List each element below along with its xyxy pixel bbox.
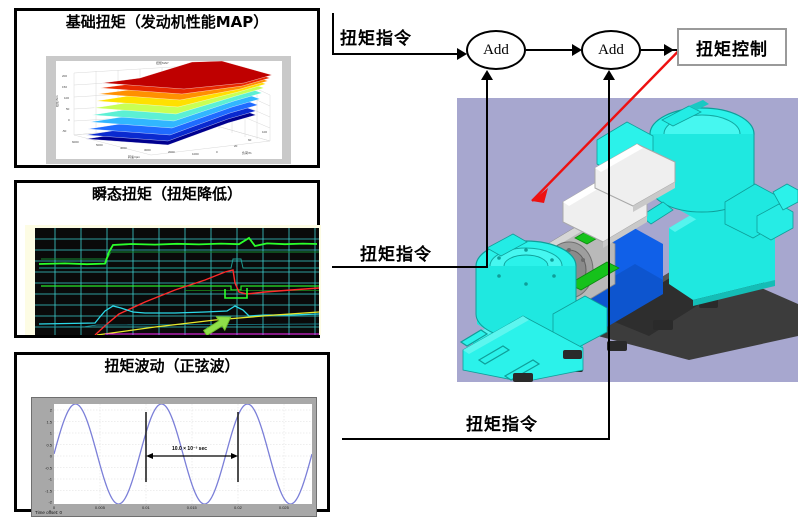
sine-xtick: 0.025	[279, 505, 289, 510]
svg-text:6000: 6000	[72, 140, 79, 144]
diagram-canvas: 基础扭矩（发动机性能MAP）	[0, 0, 798, 520]
svg-text:扭矩MAP: 扭矩MAP	[156, 61, 169, 65]
sine-xtick: 0.02	[234, 505, 242, 510]
surface-plot-svg: 200150 10050 0-50 60005000 40003000 2000…	[56, 61, 282, 159]
dyno-test-bench-svg	[457, 98, 798, 382]
transient-scope-svg	[35, 228, 319, 335]
transient-scope-screen	[35, 228, 319, 335]
dyno-test-bench-image	[457, 98, 798, 382]
sine-ytick: -0.5	[45, 465, 52, 470]
wire-bottom-vertical	[608, 80, 610, 440]
torque-control-label: 扭矩控制	[696, 35, 768, 60]
add-node-1[interactable]: Add	[466, 30, 526, 70]
panel-transient-torque-title: 瞬态扭矩（扭矩降低）	[17, 183, 317, 203]
sine-ytick: 2	[50, 408, 52, 413]
sine-scope-figure: 2 1.5 1 0.5 0 -0.5 -1 -1.5 -2 0 0.005 0.…	[31, 397, 317, 517]
panel-torque-fluctuation: 扭矩波动（正弦波）	[14, 352, 330, 512]
sine-ytick: -2	[48, 500, 52, 505]
svg-text:5000: 5000	[96, 143, 103, 147]
svg-text:200: 200	[62, 74, 67, 78]
wire-top-horizontal	[332, 53, 460, 55]
sine-measurement-label: 10.0 × 10⁻³ sec	[172, 446, 207, 452]
label-torque-command-top: 扭矩指令	[340, 24, 412, 49]
panel-torque-fluctuation-title: 扭矩波动（正弦波）	[17, 355, 327, 375]
sine-ytick: 1.5	[46, 419, 52, 424]
svg-text:0: 0	[68, 118, 70, 122]
sine-ytick: -1.5	[45, 488, 52, 493]
svg-text:60: 60	[248, 138, 252, 142]
svg-text:负荷/%: 负荷/%	[242, 150, 252, 155]
add-node-1-label: Add	[483, 42, 509, 59]
svg-text:20: 20	[234, 144, 238, 148]
sine-ytick: -1	[48, 477, 52, 482]
sine-ytick: 0.5	[46, 442, 52, 447]
svg-text:4000: 4000	[120, 146, 127, 150]
svg-text:2000: 2000	[168, 150, 175, 154]
svg-text:100: 100	[64, 96, 69, 100]
add-node-2-label: Add	[598, 42, 624, 59]
svg-text:3000: 3000	[144, 148, 151, 152]
panel-base-torque: 基础扭矩（发动机性能MAP）	[14, 8, 320, 168]
svg-text:100: 100	[262, 130, 267, 134]
arrowhead-up-into-add1	[481, 70, 493, 80]
svg-text:0: 0	[216, 150, 218, 154]
svg-text:-50: -50	[62, 129, 67, 133]
svg-text:150: 150	[62, 85, 67, 89]
sine-xtick: 0.005	[95, 505, 105, 510]
arrowhead-into-output	[664, 44, 674, 56]
surface-plot-axes: 200150 10050 0-50 60005000 40003000 2000…	[56, 61, 282, 159]
svg-text:扭矩/Nm: 扭矩/Nm	[56, 95, 59, 107]
sine-ytick: 0	[50, 454, 52, 459]
surface-plot-figure: 200150 10050 0-50 60005000 40003000 2000…	[46, 56, 291, 164]
svg-text:50: 50	[66, 107, 70, 111]
add-node-2[interactable]: Add	[581, 30, 641, 70]
transient-scope-figure	[25, 225, 321, 335]
wire-mid-vertical	[486, 80, 488, 268]
panel-base-torque-title: 基础扭矩（发动机性能MAP）	[17, 11, 317, 31]
sine-time-offset-label: Time offset: 0	[35, 510, 62, 515]
wire-add1-to-add2	[526, 49, 576, 51]
panel-transient-torque: 瞬态扭矩（扭矩降低）	[14, 180, 320, 338]
sine-scope-svg	[54, 404, 312, 504]
arrowhead-up-into-add2	[603, 70, 615, 80]
label-torque-command-bottom: 扭矩指令	[466, 410, 538, 435]
sine-scope-axes: 2 1.5 1 0.5 0 -0.5 -1 -1.5 -2 0 0.005 0.…	[54, 404, 312, 504]
sine-xtick: 0.01	[142, 505, 150, 510]
wire-top-vertical	[332, 13, 334, 55]
svg-text:1000: 1000	[192, 152, 199, 156]
svg-text:转速/rpm: 转速/rpm	[128, 154, 141, 159]
sine-xtick: 0.015	[187, 505, 197, 510]
wire-bottom-horizontal	[342, 438, 610, 440]
label-torque-command-mid: 扭矩指令	[360, 240, 432, 265]
sine-ytick: 1	[50, 431, 52, 436]
wire-mid-horizontal	[332, 266, 488, 268]
torque-control-box[interactable]: 扭矩控制	[677, 28, 787, 66]
